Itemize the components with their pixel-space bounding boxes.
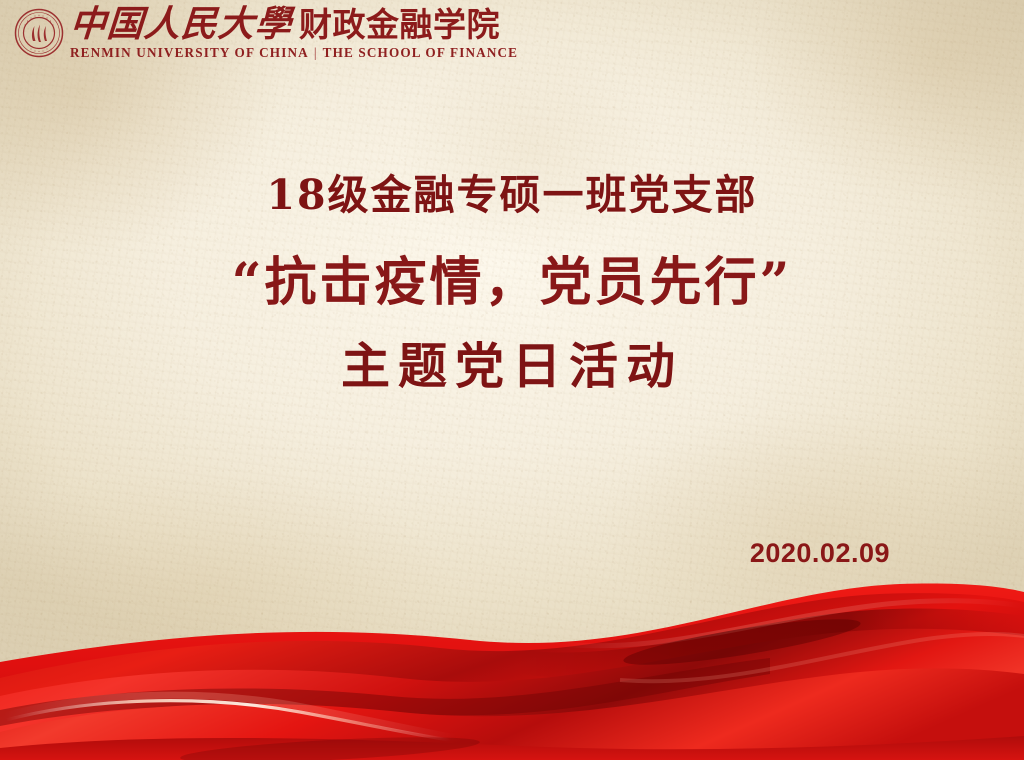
red-silk-ribbon <box>0 570 1024 760</box>
renmin-university-seal-icon <box>14 8 64 58</box>
logo-chinese-line: 中国人民大學 财政金融学院 <box>70 6 518 42</box>
slide-title-block: 18级金融专硕一班党支部 “抗击疫情，党员先行” 主题党日活动 <box>0 170 1024 399</box>
logo-wordmark: 中国人民大學 财政金融学院 RENMIN UNIVERSITY OF CHINA… <box>70 6 518 61</box>
title-line-event: 主题党日活动 <box>0 335 1024 399</box>
logo-english-line: RENMIN UNIVERSITY OF CHINA|THE SCHOOL OF… <box>70 45 518 61</box>
title-line-theme: “抗击疫情，党员先行” <box>0 249 1024 317</box>
title-line-organization: 18级金融专硕一班党支部 <box>0 170 1024 221</box>
logo-school-name-cn: 财政金融学院 <box>299 8 500 41</box>
logo-school-name-en: THE SCHOOL OF FINANCE <box>323 45 519 60</box>
logo-university-name-en: RENMIN UNIVERSITY OF CHINA <box>70 45 309 60</box>
ribbon-graphic <box>0 570 1024 760</box>
logo-separator: | <box>314 45 318 61</box>
slide-date: 2020.02.09 <box>750 538 890 569</box>
university-logo: 中国人民大學 财政金融学院 RENMIN UNIVERSITY OF CHINA… <box>14 6 518 61</box>
presentation-slide: 中国人民大學 财政金融学院 RENMIN UNIVERSITY OF CHINA… <box>0 0 1024 760</box>
logo-university-name-cn: 中国人民大學 <box>69 6 294 42</box>
